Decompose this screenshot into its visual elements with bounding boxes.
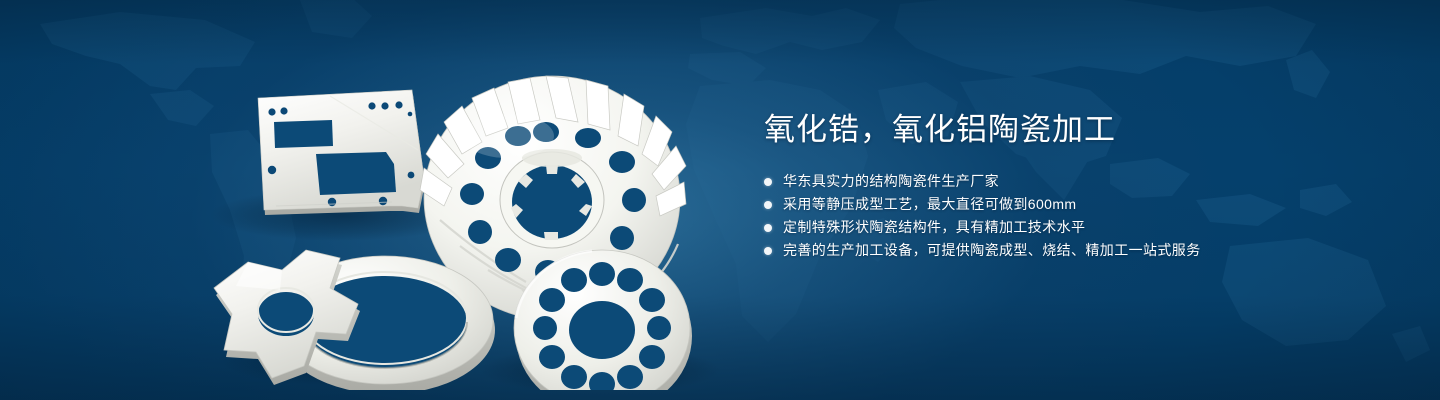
hero-banner: 氧化锆，氧化铝陶瓷加工 华东具实力的结构陶瓷件生产厂家 采用等静压成型工艺，最大… <box>0 0 1440 400</box>
bullet-dot-icon <box>764 201 772 209</box>
banner-copy: 氧化锆，氧化铝陶瓷加工 华东具实力的结构陶瓷件生产厂家 采用等静压成型工艺，最大… <box>764 110 1404 262</box>
bullet-dot-icon <box>764 178 772 186</box>
page-title: 氧化锆，氧化铝陶瓷加工 <box>764 110 1404 150</box>
list-item: 定制特殊形状陶瓷结构件，具有精加工技术水平 <box>764 216 1404 239</box>
list-item-label: 华东具实力的结构陶瓷件生产厂家 <box>783 170 999 193</box>
list-item: 华东具实力的结构陶瓷件生产厂家 <box>764 170 1404 193</box>
bullet-dot-icon <box>764 247 772 255</box>
ceramic-products-image <box>180 30 740 390</box>
list-item: 完善的生产加工设备，可提供陶瓷成型、烧结、精加工一站式服务 <box>764 239 1404 262</box>
list-item-label: 定制特殊形状陶瓷结构件，具有精加工技术水平 <box>783 216 1085 239</box>
list-item-label: 完善的生产加工设备，可提供陶瓷成型、烧结、精加工一站式服务 <box>783 239 1201 262</box>
ceramic-plate-part <box>258 90 425 215</box>
bullet-dot-icon <box>764 224 772 232</box>
feature-list: 华东具实力的结构陶瓷件生产厂家 采用等静压成型工艺，最大直径可做到600mm 定… <box>764 170 1404 262</box>
list-item: 采用等静压成型工艺，最大直径可做到600mm <box>764 193 1404 216</box>
list-item-label: 采用等静压成型工艺，最大直径可做到600mm <box>783 193 1076 216</box>
